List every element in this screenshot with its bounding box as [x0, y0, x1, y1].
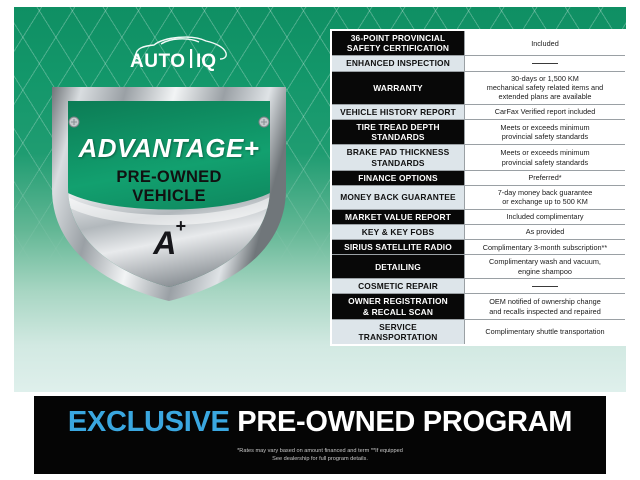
table-row: DETAILINGComplimentary wash and vacuum,e… — [331, 255, 626, 279]
table-row: SERVICETRANSPORTATIONComplimentary shutt… — [331, 319, 626, 345]
table-row: TIRE TREAD DEPTHSTANDARDSMeets or exceed… — [331, 120, 626, 145]
feature-value: Included — [465, 30, 627, 56]
feature-label: DETAILING — [331, 255, 465, 279]
table-row: KEY & KEY FOBSAs provided — [331, 225, 626, 240]
feature-value: Complimentary 3-month subscription** — [465, 240, 627, 255]
feature-label: BRAKE PAD THICKNESSSTANDARDS — [331, 145, 465, 170]
feature-label: SERVICETRANSPORTATION — [331, 319, 465, 345]
table-row: ENHANCED INSPECTION — [331, 56, 626, 71]
table-row: WARRANTY30-days or 1,500 KMmechanical sa… — [331, 71, 626, 104]
disclaimer-line-1: *Rates may vary based on amount financed… — [34, 448, 606, 456]
feature-label: SIRIUS SATELLITE RADIO — [331, 240, 465, 255]
feature-label: WARRANTY — [331, 71, 465, 104]
banner-headline-highlight: EXCLUSIVE — [68, 406, 230, 438]
feature-value: Preferred* — [465, 170, 627, 185]
feature-value — [465, 279, 627, 294]
table-row: SIRIUS SATELLITE RADIOComplimentary 3-mo… — [331, 240, 626, 255]
feature-value: Meets or exceeds minimumprovincial safet… — [465, 120, 627, 145]
feature-value: Included complimentary — [465, 209, 627, 224]
feature-value: As provided — [465, 225, 627, 240]
autoiq-logo: AUTO IQ — [114, 21, 244, 71]
feature-label: TIRE TREAD DEPTHSTANDARDS — [331, 120, 465, 145]
bottom-banner: EXCLUSIVE PRE-OWNED PROGRAM *Rates may v… — [34, 396, 606, 474]
promotional-graphic: AUTO IQ — [0, 0, 640, 480]
logo-iq-text: IQ — [196, 51, 216, 71]
banner-headline: EXCLUSIVE PRE-OWNED PROGRAM — [34, 406, 606, 439]
feature-label: COSMETIC REPAIR — [331, 279, 465, 294]
features-table: 36-POINT PROVINCIALSAFETY CERTIFICATIONI… — [330, 29, 626, 346]
feature-label: 36-POINT PROVINCIALSAFETY CERTIFICATION — [331, 30, 465, 56]
green-background-panel: AUTO IQ — [14, 7, 626, 392]
feature-label: ENHANCED INSPECTION — [331, 56, 465, 71]
features-table-body: 36-POINT PROVINCIALSAFETY CERTIFICATIONI… — [331, 30, 626, 345]
feature-value: Complimentary shuttle transportation — [465, 319, 627, 345]
feature-label: FINANCE OPTIONS — [331, 170, 465, 185]
disclaimer-text: *Rates may vary based on amount financed… — [34, 448, 606, 463]
table-row: COSMETIC REPAIR — [331, 279, 626, 294]
feature-value: 7-day money back guaranteeor exchange up… — [465, 186, 627, 210]
logo-divider — [190, 49, 192, 68]
feature-value — [465, 56, 627, 71]
feature-value: Meets or exceeds minimumprovincial safet… — [465, 145, 627, 170]
empty-value-dash — [532, 63, 558, 64]
feature-value: OEM notified of ownership changeand reca… — [465, 294, 627, 319]
feature-label: VEHICLE HISTORY REPORT — [331, 104, 465, 119]
banner-headline-rest: PRE-OWNED PROGRAM — [237, 406, 572, 438]
table-row: FINANCE OPTIONSPreferred* — [331, 170, 626, 185]
feature-value: Complimentary wash and vacuum,engine sha… — [465, 255, 627, 279]
table-row: VEHICLE HISTORY REPORTCarFax Verified re… — [331, 104, 626, 119]
feature-label: MARKET VALUE REPORT — [331, 209, 465, 224]
table-row: 36-POINT PROVINCIALSAFETY CERTIFICATIONI… — [331, 30, 626, 56]
disclaimer-line-2: See dealership for full program details. — [34, 456, 606, 464]
feature-value: 30-days or 1,500 KMmechanical safety rel… — [465, 71, 627, 104]
logo-auto-text: AUTO — [130, 51, 185, 71]
advantage-plus-shield-badge: ADVANTAGE+ PRE-OWNED VEHICLE A+ — [44, 75, 294, 305]
feature-label: MONEY BACK GUARANTEE — [331, 186, 465, 210]
table-row: MARKET VALUE REPORTIncluded complimentar… — [331, 209, 626, 224]
table-row: BRAKE PAD THICKNESSSTANDARDSMeets or exc… — [331, 145, 626, 170]
feature-label: OWNER REGISTRATION& RECALL SCAN — [331, 294, 465, 319]
empty-value-dash — [532, 286, 558, 287]
feature-label: KEY & KEY FOBS — [331, 225, 465, 240]
table-row: MONEY BACK GUARANTEE7-day money back gua… — [331, 186, 626, 210]
feature-value: CarFax Verified report included — [465, 104, 627, 119]
table-row: OWNER REGISTRATION& RECALL SCANOEM notif… — [331, 294, 626, 319]
